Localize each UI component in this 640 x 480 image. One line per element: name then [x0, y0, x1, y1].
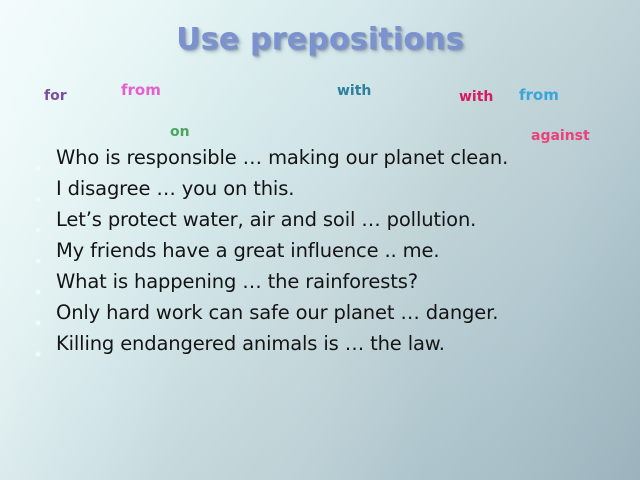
bullet-dot-icon — [36, 269, 56, 298]
bullet-dot-icon — [36, 145, 56, 174]
list-item: My friends have a great influence .. me. — [36, 238, 616, 267]
preposition-word-for: for — [44, 89, 67, 103]
list-item-text: Who is responsible … making our planet c… — [56, 145, 556, 170]
bullet-dot-icon-shape — [36, 197, 40, 201]
bullet-dot-icon — [36, 331, 56, 360]
bullet-dot-icon-shape — [36, 321, 40, 325]
list-item: Let’s protect water, air and soil … poll… — [36, 207, 616, 236]
list-item: Killing endangered animals is … the law. — [36, 331, 616, 360]
preposition-word-against: against — [531, 129, 590, 143]
list-item-text: My friends have a great influence .. me. — [56, 238, 616, 263]
bullet-dot-icon — [36, 207, 56, 236]
list-item: What is happening … the rainforests? — [36, 269, 616, 298]
bullet-dot-icon-shape — [36, 259, 40, 263]
preposition-word-on: on — [170, 125, 190, 139]
page-title: Use prepositions — [0, 22, 640, 57]
list-item: Only hard work can safe our planet … dan… — [36, 300, 616, 329]
list-item-text: Killing endangered animals is … the law. — [56, 331, 616, 356]
list-item-text: I disagree … you on this. — [56, 176, 616, 201]
list-item: I disagree … you on this. — [36, 176, 616, 205]
list-item: Who is responsible … making our planet c… — [36, 145, 616, 174]
preposition-word-from: from — [519, 88, 559, 103]
list-item-text: Let’s protect water, air and soil … poll… — [56, 207, 616, 232]
bullet-dot-icon — [36, 238, 56, 267]
bullet-dot-icon — [36, 300, 56, 329]
preposition-word-with: with — [459, 90, 493, 104]
list-item-text: Only hard work can safe our planet … dan… — [56, 300, 556, 325]
exercise-sentence-list: Who is responsible … making our planet c… — [36, 145, 616, 362]
list-item-text: What is happening … the rainforests? — [56, 269, 616, 294]
bullet-dot-icon-shape — [36, 166, 40, 170]
preposition-word-with: with — [337, 84, 371, 98]
bullet-dot-icon-shape — [36, 352, 40, 356]
presentation-slide: Use prepositions forfromwithwithfromonag… — [0, 0, 640, 480]
bullet-dot-icon-shape — [36, 290, 40, 294]
preposition-word-from: from — [121, 83, 161, 98]
bullet-dot-icon-shape — [36, 228, 40, 232]
bullet-dot-icon — [36, 176, 56, 205]
